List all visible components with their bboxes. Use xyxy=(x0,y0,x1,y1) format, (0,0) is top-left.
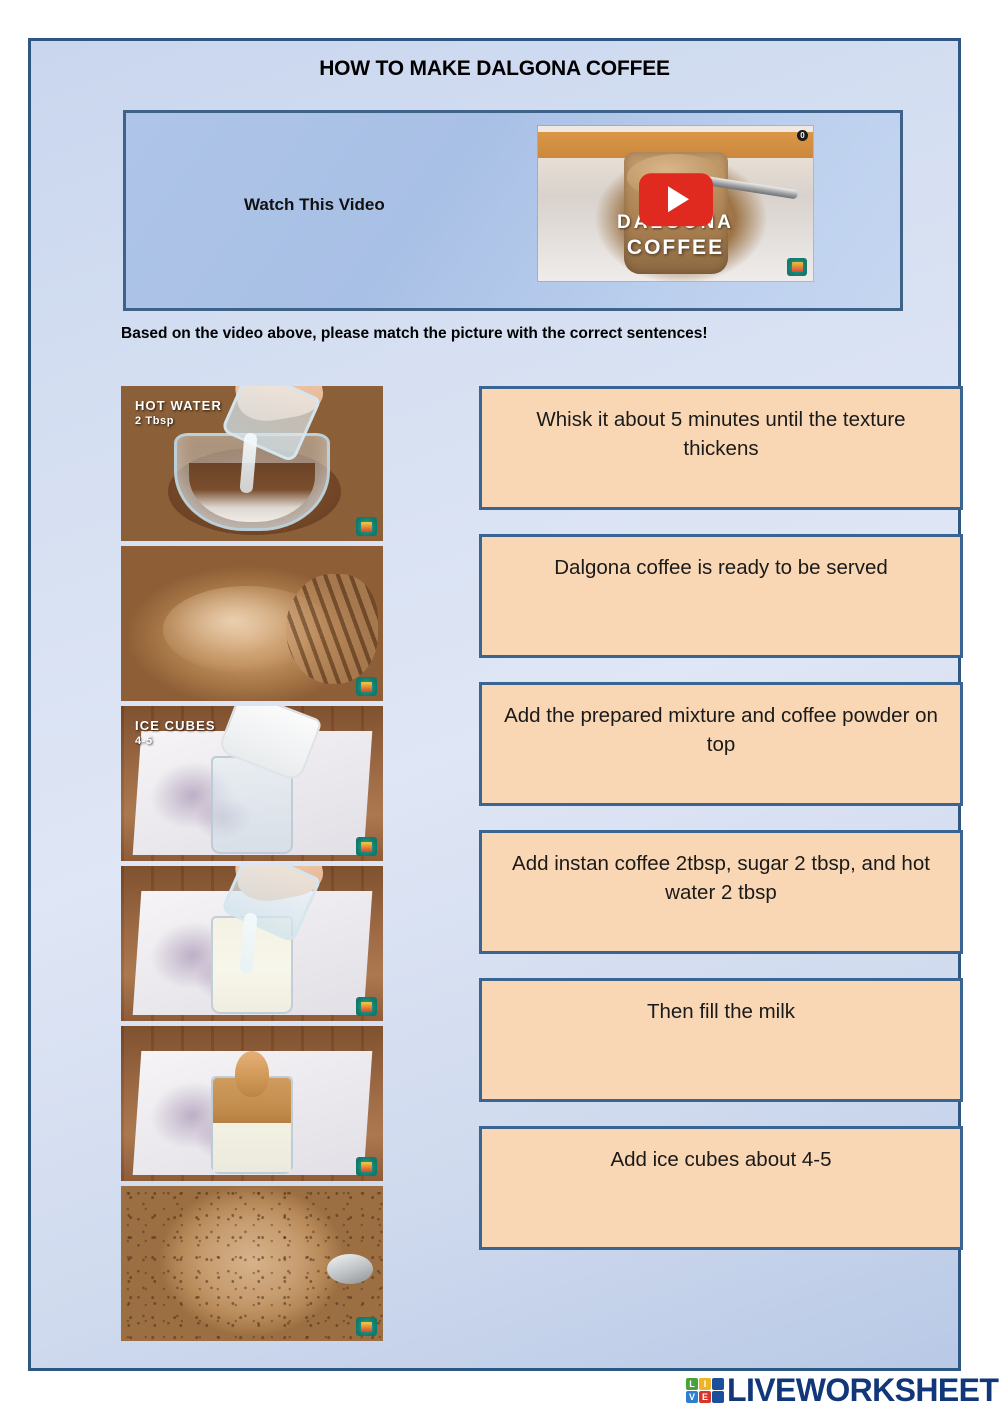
photo-hot-water[interactable]: HOT WATER 2 Tbsp xyxy=(121,386,383,541)
answer-ice[interactable]: Add ice cubes about 4-5 xyxy=(479,1126,963,1250)
logo-wordmark: LIVEWORKSHEETS xyxy=(727,1372,999,1409)
logo-tile-v: V xyxy=(686,1391,698,1403)
instruction-text: Based on the video above, please match t… xyxy=(121,323,907,345)
whisk-icon xyxy=(286,574,378,684)
answer-whisk[interactable]: Whisk it about 5 minutes until the textu… xyxy=(479,386,963,510)
milk-layer xyxy=(213,1123,291,1172)
channel-watermark-icon xyxy=(356,1157,377,1176)
matching-exercise: HOT WATER 2 Tbsp ICE CUBES 4-5 xyxy=(31,386,958,1316)
logo-tile-e: E xyxy=(699,1391,711,1403)
photo-overlay-sub: 2 Tbsp xyxy=(135,415,174,427)
answer-milk[interactable]: Then fill the milk xyxy=(479,978,963,1102)
photo-overlay-sub: 4-5 xyxy=(135,735,153,747)
channel-watermark-icon xyxy=(356,677,377,696)
channel-watermark-icon xyxy=(356,997,377,1016)
logo-tile-i: I xyxy=(699,1378,711,1390)
liveworksheets-logo[interactable]: L I V E LIVEWORKSHEETS xyxy=(686,1371,999,1409)
photo-milk[interactable] xyxy=(121,866,383,1021)
channel-watermark-icon xyxy=(356,517,377,536)
answer-ready[interactable]: Dalgona coffee is ready to be served xyxy=(479,534,963,658)
dalgona-dollop xyxy=(235,1051,269,1097)
worksheet-panel: HOW TO MAKE DALGONA COFFEE Watch This Vi… xyxy=(28,38,961,1371)
answer-mixture[interactable]: Add the prepared mixture and coffee powd… xyxy=(479,682,963,806)
spoon-icon xyxy=(327,1254,373,1284)
answer-column: Whisk it about 5 minutes until the textu… xyxy=(479,386,963,1274)
thumbnail-corner-badge: 0 xyxy=(797,130,808,141)
answer-ingredients[interactable]: Add instan coffee 2tbsp, sugar 2 tbsp, a… xyxy=(479,830,963,954)
video-thumbnail[interactable]: DALGONA COFFEE 0 xyxy=(538,126,813,281)
channel-watermark-icon xyxy=(356,837,377,856)
video-block: Watch This Video DALGONA COFFEE 0 xyxy=(123,110,903,311)
logo-tile-blank-top xyxy=(712,1378,724,1390)
thumbnail-title-bottom: COFFEE xyxy=(538,236,813,260)
photo-overlay-label: ICE CUBES xyxy=(135,718,216,733)
photo-finished[interactable] xyxy=(121,1186,383,1341)
photo-column: HOT WATER 2 Tbsp ICE CUBES 4-5 xyxy=(121,386,383,1346)
photo-overlay-label: HOT WATER xyxy=(135,398,222,413)
logo-tile-blank-bottom xyxy=(712,1391,724,1403)
logo-tile-l: L xyxy=(686,1378,698,1390)
logo-mark-icon: L I V E xyxy=(686,1378,724,1403)
watch-video-label: Watch This Video xyxy=(244,195,385,215)
photo-ice-cubes[interactable]: ICE CUBES 4-5 xyxy=(121,706,383,861)
channel-watermark-icon xyxy=(356,1317,377,1336)
photo-topping[interactable] xyxy=(121,1026,383,1181)
photo-whisking[interactable] xyxy=(121,546,383,701)
page-title: HOW TO MAKE DALGONA COFFEE xyxy=(31,57,958,81)
channel-watermark-icon xyxy=(787,258,807,276)
youtube-play-icon[interactable] xyxy=(639,173,713,226)
